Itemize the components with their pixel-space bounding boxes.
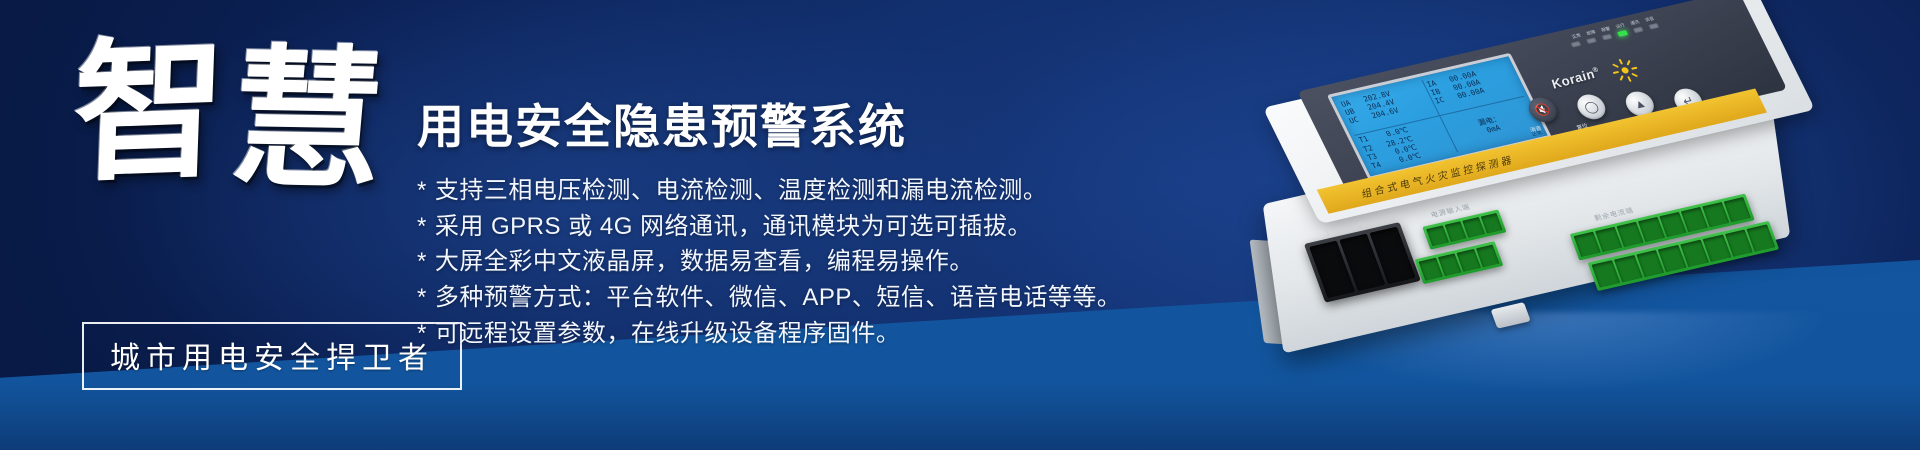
lcd-content: UA202.8V UB204.4V UC204.6V IA00.00A IB00… <box>1337 61 1542 172</box>
terminal-pin <box>1725 230 1754 257</box>
green-terminal-block <box>1570 194 1755 261</box>
device-top-face <box>1263 0 1815 224</box>
brand-wordmark: Korain® <box>1548 65 1603 91</box>
bullet-marker-icon: * <box>417 213 427 240</box>
terminal-pin <box>1681 207 1708 232</box>
device-control-panel <box>1298 0 1788 191</box>
lcd-value-ua: 202.8V <box>1355 89 1392 105</box>
green-terminal-block <box>1422 209 1506 249</box>
led-label-fault: 故障 <box>1584 29 1597 37</box>
lcd-row-t1: T10.0℃ <box>1357 118 1442 145</box>
lcd-label-t3: T3 <box>1366 150 1386 162</box>
terminal-pin <box>1480 213 1502 234</box>
lcd-label-ib: IB <box>1429 85 1449 97</box>
lcd-label-t1: T1 <box>1357 133 1377 145</box>
led-indicator-row <box>1570 19 1685 64</box>
button-label-reset: 复位 <box>1575 122 1589 132</box>
list-item-label: 大屏全彩中文液晶屏，数据易查看，编程易操作。 <box>435 248 974 275</box>
list-item-label: 支持三相电压检测、电流检测、温度检测和漏电流检测。 <box>435 177 1048 204</box>
terminal-pin <box>1574 232 1601 257</box>
bottom-fade-overlay <box>0 380 1920 450</box>
lcd-label-ub: UB <box>1343 105 1363 117</box>
calligraphy-char-1: 智 <box>70 18 235 202</box>
list-item-label: 采用 GPRS 或 4G 网络通讯，通讯模块为可选可插拔。 <box>435 213 1032 240</box>
lcd-display: UA202.8V UB204.4V UC204.6V IA00.00A IB00… <box>1327 53 1552 180</box>
terminal-pin <box>1462 217 1484 238</box>
terminal-number-2: 2 <box>1356 221 1363 231</box>
promo-banner: 智慧 城市用电安全捍卫者 用电安全隐患预警系统 *支持三相电压检测、电流检测、温… <box>0 0 1920 450</box>
terminal-label-residual: 剩余电流端 <box>1593 205 1635 223</box>
list-item: *多种预警方式：平台软件、微信、APP、短信、语音电话等等。 <box>417 282 1121 314</box>
terminal-pin <box>1638 217 1665 242</box>
terminal-pin <box>1658 245 1687 272</box>
lcd-value-ic: 00.00A <box>1449 86 1486 102</box>
sunburst-logo-icon <box>1607 55 1644 85</box>
page-title: 用电安全隐患预警系统 <box>417 88 907 157</box>
terminal-label-power: 电源输入端 <box>1430 202 1472 220</box>
lcd-label-t2: T2 <box>1361 142 1381 154</box>
terminal-number-row: 1 2 3 <box>1310 210 1411 241</box>
terminal-pin <box>1659 212 1686 237</box>
terminal-pin <box>1747 224 1776 251</box>
terminal-pin <box>1592 260 1621 287</box>
list-item-label: 可远程设置参数，在线升级设备程序固件。 <box>435 320 901 347</box>
terminal-pin <box>1595 227 1622 252</box>
terminal-number-1: 1 <box>1324 228 1331 238</box>
led-comm-icon <box>1633 27 1644 34</box>
terminal-pin <box>1418 258 1442 281</box>
green-terminal-block <box>1588 221 1780 291</box>
bullet-marker-icon: * <box>417 284 427 311</box>
led-label-normal: 正常 <box>1570 32 1583 40</box>
led-run-icon <box>1617 30 1628 37</box>
device-front-face <box>1263 87 1791 353</box>
lcd-value-ib: 00.00A <box>1445 78 1482 94</box>
device-body: UA202.8V UB204.4V UC204.6V IA00.00A IB00… <box>1228 0 1903 450</box>
lcd-label-ua: UA <box>1339 97 1359 109</box>
list-item: *可远程设置参数，在线升级设备程序固件。 <box>417 318 1121 350</box>
list-item: *支持三相电压检测、电流检测、温度检测和漏电流检测。 <box>417 175 1121 207</box>
tagline-text: 城市用电安全捍卫者 <box>110 333 434 377</box>
lcd-value-ub: 204.4V <box>1359 98 1396 114</box>
lcd-leakage-section: 漏电： 0mA <box>1439 96 1542 152</box>
terminal-number-3: 3 <box>1389 213 1396 223</box>
lcd-current-section: IA00.00A IB00.00A IC00.00A <box>1422 61 1524 116</box>
calligraphy-char-2: 慧 <box>224 38 396 200</box>
lcd-temperature-section: T10.0℃ T228.2℃ T30.0℃ T40.0℃ <box>1354 116 1457 172</box>
lcd-label-uc: UC <box>1348 114 1368 126</box>
lcd-row-t3: T30.0℃ <box>1366 135 1451 162</box>
bullet-marker-icon: * <box>417 177 427 204</box>
lcd-label-ic: IC <box>1433 94 1453 106</box>
lcd-value-uc: 204.6V <box>1363 106 1400 122</box>
confirm-button[interactable]: ↵ <box>1670 86 1707 116</box>
device-button-labels: 消音 复位 增加 确定 <box>1527 84 1726 154</box>
tagline-box: 城市用电安全捍卫者 <box>82 322 462 390</box>
terminal-pin <box>1437 253 1461 276</box>
lcd-leakage-value: 0mA <box>1485 123 1502 134</box>
lcd-label-ia: IA <box>1425 77 1445 89</box>
list-item: *大屏全彩中文液晶屏，数据易查看，编程易操作。 <box>417 246 1121 278</box>
terminal-pin <box>1702 235 1731 262</box>
led-normal-icon <box>1570 41 1581 48</box>
list-item-label: 多种预警方式：平台软件、微信、APP、短信、语音电话等等。 <box>435 284 1122 311</box>
registered-mark-icon: ® <box>1591 66 1600 74</box>
brand-name: Korain <box>1548 66 1598 91</box>
terminal-pin <box>1636 250 1665 277</box>
terminal-pin <box>1475 245 1499 268</box>
led-label-mute: 消音 <box>1643 16 1656 24</box>
lcd-status-footer: 正常 <box>1530 129 1543 138</box>
lcd-row-ic: IC00.00A <box>1433 79 1517 106</box>
terminal-slot <box>1370 227 1416 284</box>
lcd-value-t1: 0.0℃ <box>1373 126 1410 142</box>
product-name-text: 组合式电气火灾监控探测器 <box>1361 150 1515 200</box>
increase-button[interactable]: ▲ <box>1621 89 1658 119</box>
bullet-marker-icon: * <box>417 248 427 275</box>
terminal-slot <box>1309 241 1355 298</box>
led-label-alarm: 报警 <box>1599 26 1612 34</box>
enter-icon: ↵ <box>1680 93 1696 108</box>
button-label-mute: 消音 <box>1528 124 1542 134</box>
led-label-comm: 通讯 <box>1628 19 1641 27</box>
reset-button[interactable]: ◯ <box>1573 92 1610 122</box>
led-mute-icon <box>1648 23 1659 30</box>
din-rail-clip <box>1491 302 1531 329</box>
lcd-row-t2: T228.2℃ <box>1361 126 1446 153</box>
lcd-row-ib: IB00.00A <box>1429 71 1513 98</box>
terminal-pin <box>1614 255 1643 282</box>
lcd-row-ia: IA00.00A <box>1425 62 1509 89</box>
list-item: *采用 GPRS 或 4G 网络通讯，通讯模块为可选可插拔。 <box>417 211 1121 243</box>
button-label-confirm: 确定 <box>1672 116 1686 126</box>
lcd-value-t4: 0.0℃ <box>1385 151 1422 167</box>
lcd-row-t4: T40.0℃ <box>1370 143 1455 170</box>
bullet-marker-icon: * <box>417 320 427 347</box>
terminal-pin <box>1724 197 1751 222</box>
terminal-pin <box>1680 240 1709 267</box>
mute-button[interactable]: 🔇 <box>1524 95 1561 125</box>
feature-list: *支持三相电压检测、电流检测、温度检测和漏电流检测。 *采用 GPRS 或 4G… <box>417 175 1121 349</box>
lcd-row-ua: UA202.8V <box>1339 82 1424 109</box>
power-terminal-block <box>1304 222 1421 303</box>
lcd-row-ub: UB204.4V <box>1343 90 1428 117</box>
up-triangle-icon: ▲ <box>1631 96 1649 112</box>
led-alarm-icon <box>1602 34 1613 41</box>
led-fault-icon <box>1586 37 1597 44</box>
product-name-strip: 组合式电气火灾监控探测器 <box>1317 89 1767 214</box>
terminal-slot <box>1339 234 1385 291</box>
led-label-run: 运行 <box>1614 22 1627 30</box>
device-button-group: 🔇 ◯ ▲ ↵ <box>1524 61 1716 143</box>
lcd-leakage-label: 漏电： <box>1476 114 1502 127</box>
lcd-value-ia: 00.00A <box>1441 69 1478 85</box>
terminal-pin <box>1426 225 1448 246</box>
circle-icon: ◯ <box>1582 99 1601 115</box>
terminal-pin <box>1616 222 1643 247</box>
green-terminal-block <box>1415 241 1504 284</box>
led-label-row: 正常 故障 报警 运行 通讯 消音 <box>1570 8 1688 40</box>
button-label-increase: 增加 <box>1623 119 1637 129</box>
device-reflection <box>1272 312 1832 392</box>
lcd-label-t4: T4 <box>1370 158 1390 170</box>
lcd-value-t3: 0.0℃ <box>1381 142 1418 158</box>
calligraphy-logo: 智慧 <box>67 22 406 283</box>
product-device-image: UA202.8V UB204.4V UC204.6V IA00.00A IB00… <box>1246 16 1886 386</box>
lcd-row-uc: UC204.6V <box>1348 99 1433 126</box>
mute-icon: 🔇 <box>1532 102 1553 118</box>
terminal-pin <box>1444 221 1466 242</box>
terminal-pin <box>1456 249 1480 272</box>
lcd-voltage-section: UA202.8V UB204.4V UC204.6V <box>1337 80 1439 135</box>
terminal-pin <box>1702 202 1729 227</box>
device-side-face <box>1250 240 1297 345</box>
lcd-value-t2: 28.2℃ <box>1377 134 1414 150</box>
